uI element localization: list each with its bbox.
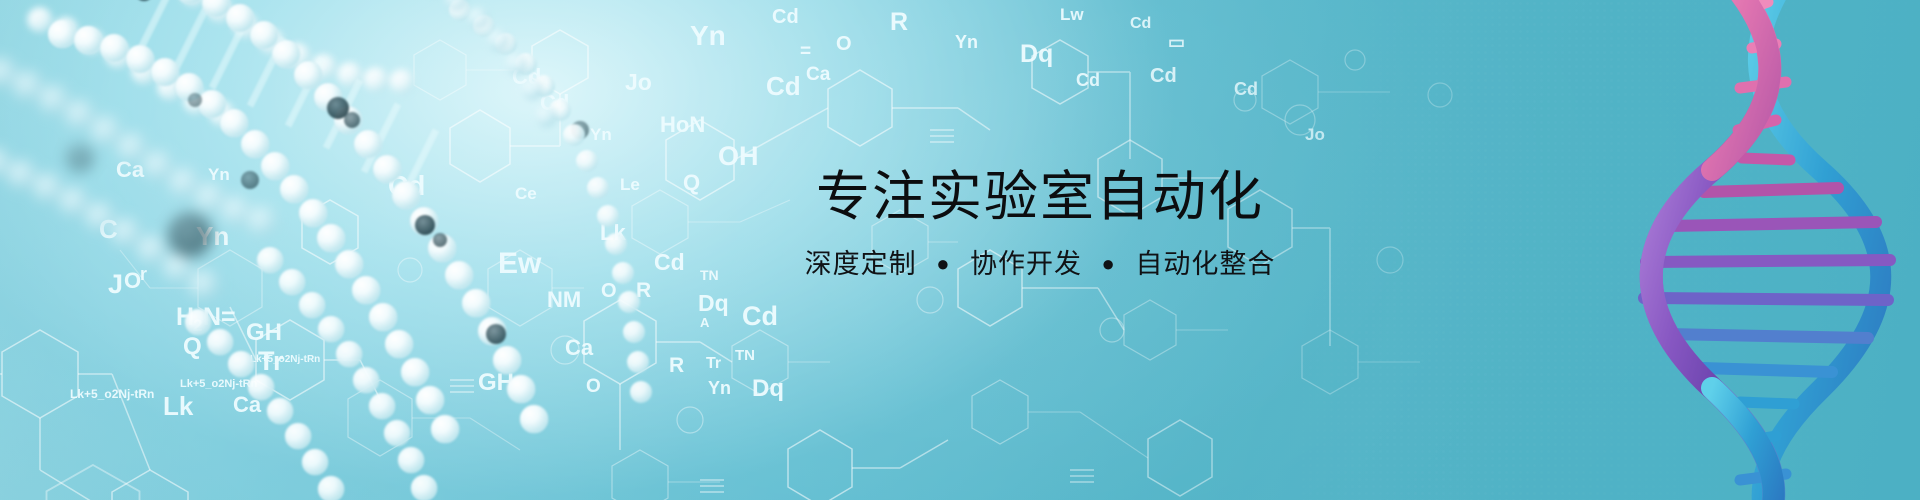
lab-automation-hero-banner: .hx { stroke:#ffffff; stroke-width:1.5; … [0, 0, 1920, 500]
svg-text:Dq: Dq [1020, 40, 1053, 68]
svg-text:Cd: Cd [1234, 79, 1258, 99]
svg-text:Cd: Cd [1130, 15, 1151, 32]
svg-text:Cd: Cd [1076, 70, 1100, 90]
svg-text:▭: ▭ [1168, 32, 1185, 52]
svg-text:Lw: Lw [1060, 5, 1084, 24]
svg-text:Cd: Cd [1150, 65, 1177, 87]
svg-text:Jo: Jo [1305, 125, 1325, 144]
svg-text:R: R [890, 8, 908, 36]
svg-text:Yn: Yn [955, 32, 978, 52]
